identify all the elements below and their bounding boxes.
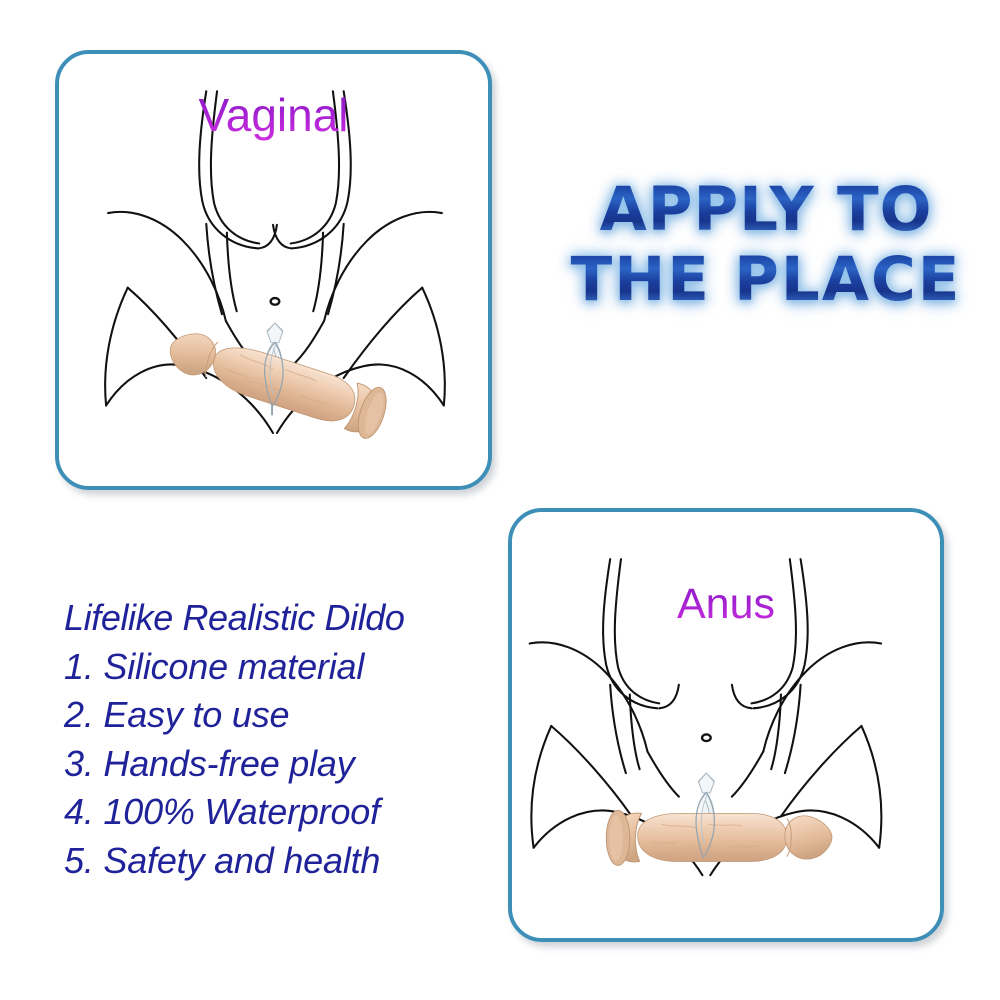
- feature-item-5: 5. Safety and health: [64, 837, 494, 886]
- navel-mark: [271, 298, 280, 305]
- card-label-anus: Anus: [512, 580, 940, 629]
- feature-item-1: 1. Silicone material: [64, 643, 494, 692]
- headline-line-1: APPLY TO: [540, 175, 992, 245]
- card-anus-inner: Anus: [512, 512, 940, 938]
- headline-line-2: THE PLACE: [540, 245, 992, 315]
- card-vaginal-inner: Vaginal: [59, 54, 488, 486]
- card-vaginal[interactable]: Vaginal: [55, 50, 492, 490]
- feature-item-3: 3. Hands-free play: [64, 740, 494, 789]
- feature-list-title: Lifelike Realistic Dildo: [64, 594, 494, 643]
- feature-list: Lifelike Realistic Dildo 1. Silicone mat…: [64, 594, 494, 885]
- feature-item-4: 4. 100% Waterproof: [64, 788, 494, 837]
- feature-item-2: 2. Easy to use: [64, 691, 494, 740]
- female-torso-illustration-anus: [512, 512, 940, 938]
- product-infographic: { "page": { "background_color": "#ffffff…: [0, 0, 1000, 1000]
- card-label-vaginal: Vaginal: [59, 88, 488, 142]
- headline: APPLY TO THE PLACE: [540, 175, 992, 315]
- card-anus[interactable]: Anus: [508, 508, 944, 942]
- navel-mark: [702, 734, 711, 741]
